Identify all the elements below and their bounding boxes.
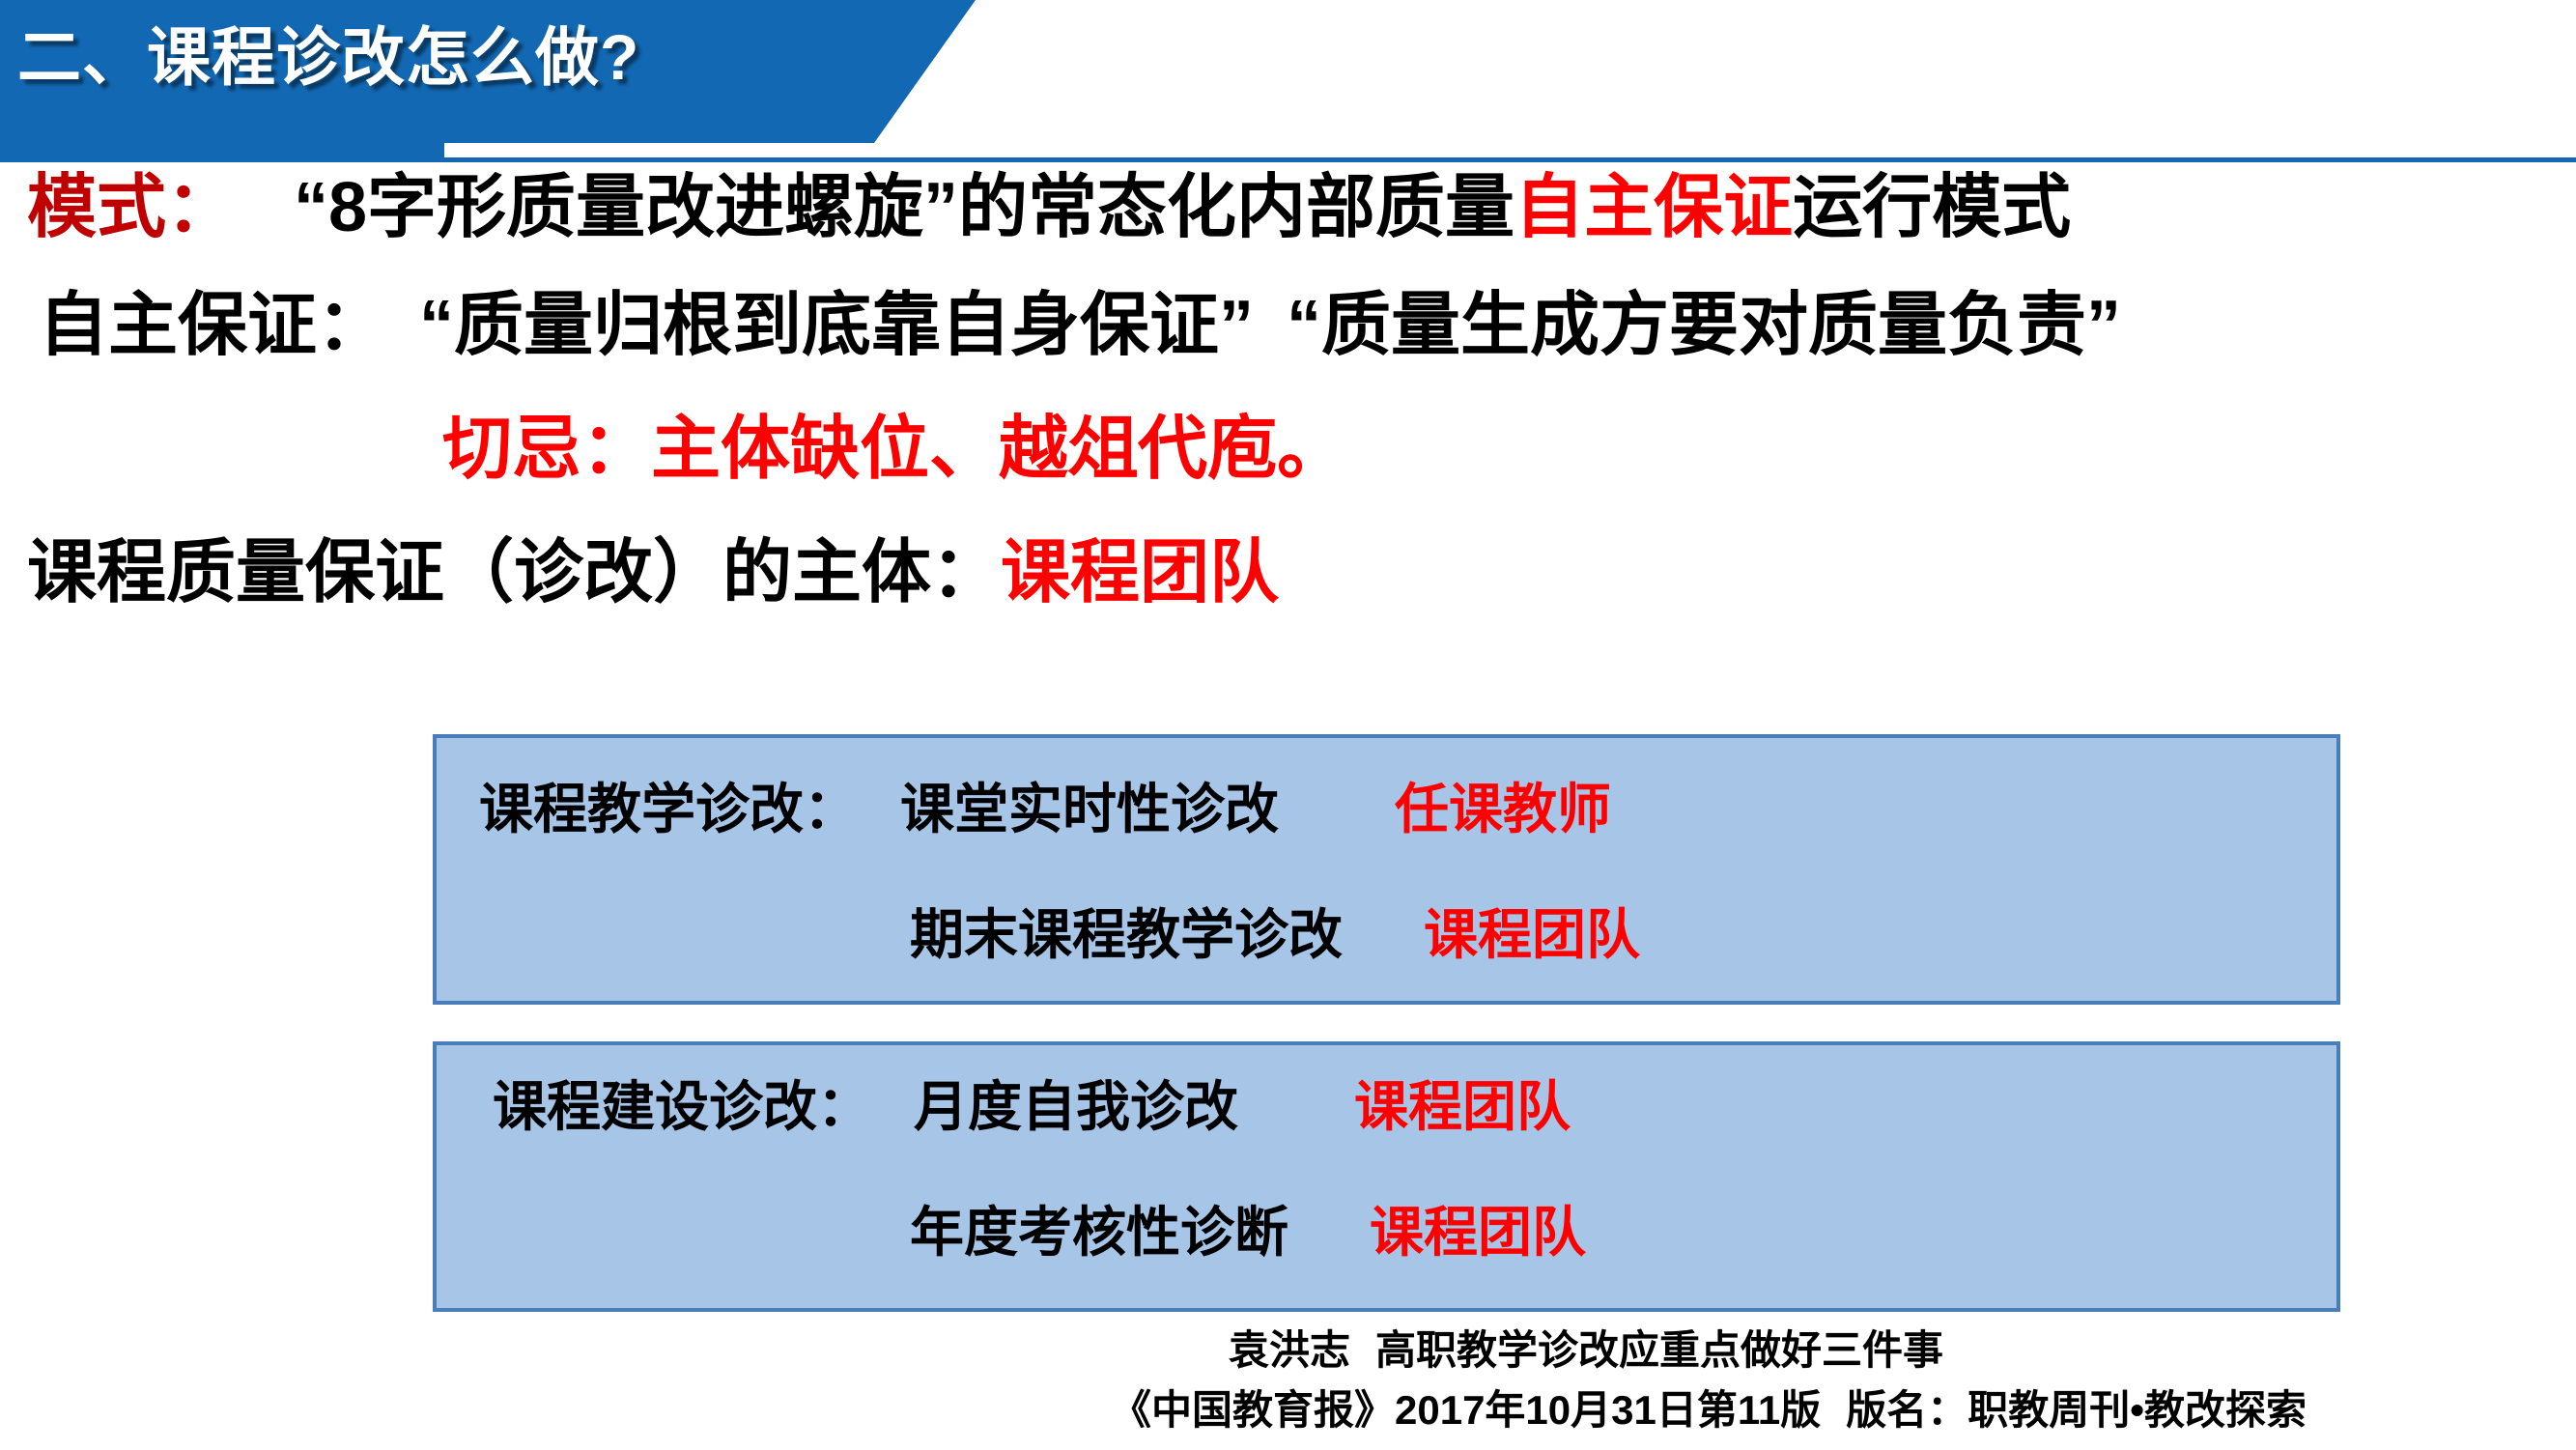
- header-divider-rule: [0, 157, 2576, 162]
- citation-author: 袁洪志: [1229, 1327, 1350, 1373]
- warning-text: 切忌：主体缺位、越俎代庖。: [442, 411, 1346, 488]
- citation-source-line: 《中国教育报》2017年10月31日第11版版名：职教周刊•教改探索: [1111, 1381, 2307, 1439]
- table-row: 年度考核性诊断课程团队: [910, 1206, 1586, 1260]
- table-row: 课程教学诊改：课堂实时性诊改任课教师: [479, 782, 1611, 837]
- row-label: 课程建设诊改：: [493, 1076, 871, 1137]
- row-owner: 任课教师: [1395, 779, 1611, 839]
- subject-highlight: 课程团队: [1001, 534, 1279, 611]
- citation-column: 版名：职教周刊•教改探索: [1846, 1387, 2307, 1433]
- teaching-diagnosis-box: 课程教学诊改：课堂实时性诊改任课教师 期末课程教学诊改课程团队: [433, 734, 2340, 1005]
- selfguarantee-quote-1: “质量归根到底靠自身保证”: [419, 287, 1254, 364]
- row-owner: 课程团队: [1370, 1202, 1586, 1263]
- header-band-foot: [0, 143, 444, 157]
- course-building-diagnosis-box: 课程建设诊改：月度自我诊改课程团队 年度考核性诊断课程团队: [433, 1041, 2340, 1312]
- citation-article: 高职教学诊改应重点做好三件事: [1375, 1327, 1943, 1373]
- slide-header: 二、课程诊改怎么做?: [0, 0, 2576, 164]
- row-action: 期末课程教学诊改: [910, 904, 1343, 965]
- table-row: 课程建设诊改：月度自我诊改课程团队: [493, 1080, 1571, 1134]
- mode-highlight: 自主保证: [1514, 169, 1793, 246]
- body-line-warning: 切忌：主体缺位、越俎代庖。: [442, 413, 1346, 487]
- row-action: 月度自我诊改: [914, 1076, 1238, 1137]
- row-owner: 课程团队: [1424, 904, 1640, 965]
- row-action: 年度考核性诊断: [910, 1202, 1288, 1263]
- row-action: 课堂实时性诊改: [900, 779, 1279, 839]
- body-line-mode: 模式：“8字形质量改进螺旋”的常态化内部质量自主保证运行模式: [27, 172, 2071, 245]
- citation-source: 《中国教育报》2017年10月31日第11版: [1111, 1387, 1821, 1433]
- subject-text: 课程质量保证（诊改）的主体：: [27, 534, 1001, 611]
- selfguarantee-quote-2: “质量生成方要对质量负责”: [1287, 287, 2121, 364]
- table-row: 期末课程教学诊改课程团队: [910, 908, 1640, 962]
- mode-label: 模式：: [27, 169, 236, 246]
- citation-author-line: 袁洪志高职教学诊改应重点做好三件事: [1229, 1322, 1943, 1379]
- selfguarantee-label: 自主保证：: [39, 287, 386, 364]
- mode-text-a: “8字形质量改进螺旋”的常态化内部质量: [294, 169, 1514, 246]
- row-label: 课程教学诊改：: [479, 779, 858, 839]
- mode-text-b: 运行模式: [1793, 169, 2071, 246]
- body-line-subject: 课程质量保证（诊改）的主体：课程团队: [27, 537, 1279, 611]
- page-title: 二、课程诊改怎么做?: [17, 25, 639, 89]
- row-owner: 课程团队: [1354, 1076, 1571, 1137]
- body-line-selfguarantee: 自主保证：“质量归根到底靠自身保证”“质量生成方要对质量负责”: [39, 290, 2121, 363]
